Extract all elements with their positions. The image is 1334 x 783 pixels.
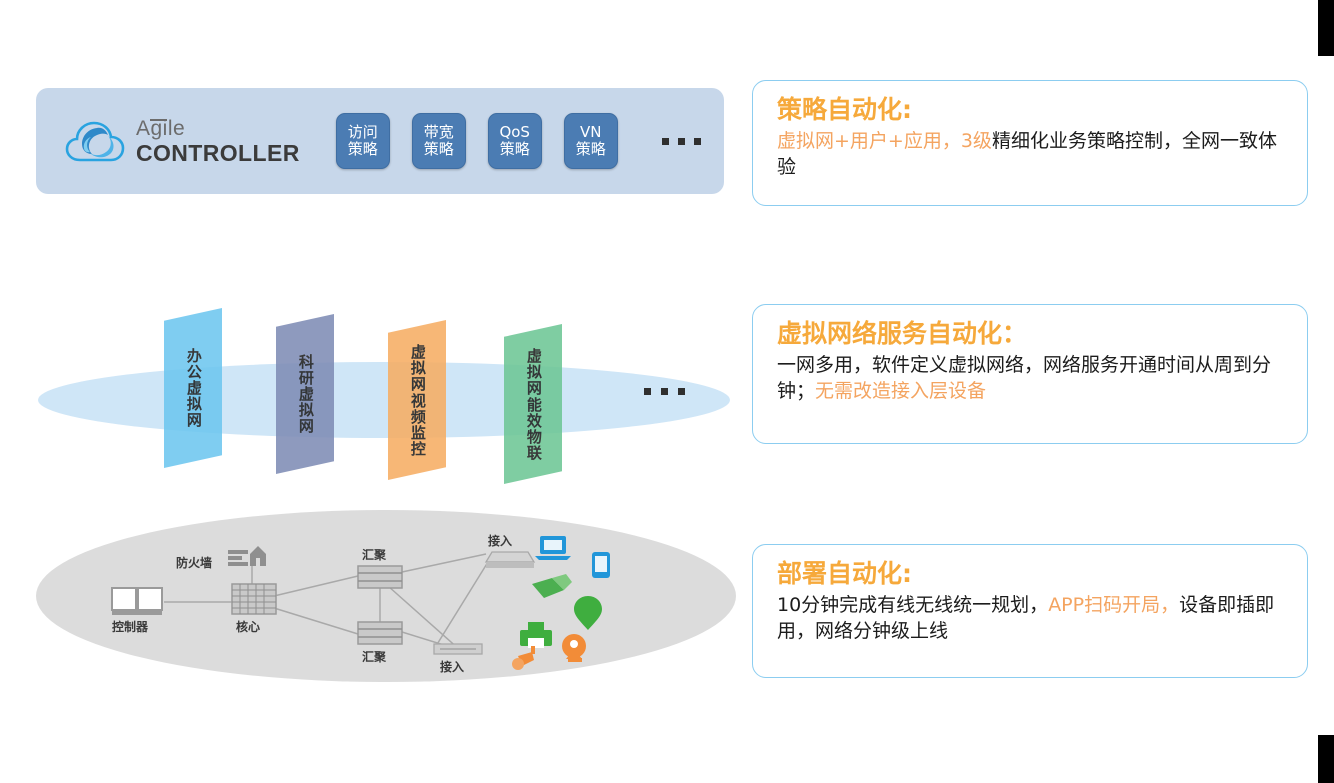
chip-line-1: 访问 — [348, 124, 378, 141]
slab-label: 办公虚拟网 — [164, 308, 222, 468]
printer-icon — [520, 622, 552, 648]
agile-controller-logo: Agile CONTROLLER — [64, 116, 300, 166]
core-switch-node-icon[interactable] — [232, 584, 276, 614]
ellipsis-dot — [678, 388, 685, 395]
access-switch-lower-icon[interactable] — [434, 644, 482, 654]
topology-label-controller: 控制器 — [112, 618, 148, 635]
slab-energy-iot-virtual-network[interactable]: 虚拟网能效物联 — [504, 324, 562, 484]
policy-chips-more-indicator — [662, 138, 701, 145]
access-switch-upper-icon[interactable] — [486, 552, 534, 568]
controller-node-icon[interactable] — [112, 588, 162, 615]
slab-research-virtual-network[interactable]: 科研虚拟网 — [276, 314, 334, 474]
tablet-icon — [592, 552, 610, 578]
topology-label-aggregation-upper: 汇聚 — [362, 546, 386, 563]
sensor-icon — [574, 596, 602, 630]
topology-label-access-lower: 接入 — [440, 658, 464, 675]
firewall-node-icon[interactable] — [228, 546, 266, 566]
chip-line-2: 策略 — [576, 141, 606, 158]
ellipsis-dot — [661, 388, 668, 395]
agile-controller-wordmark: Agile CONTROLLER — [136, 118, 300, 165]
chip-line-1: QoS — [499, 124, 530, 141]
edge-marker-bottom — [1318, 735, 1334, 783]
panel-title: 部署自动化: — [777, 559, 1287, 589]
callout-panel-deployment-automation: 部署自动化: 10分钟完成有线无线统一规划，APP扫码开局，设备即插即用，网络分… — [752, 544, 1308, 678]
network-backbone-ellipse — [38, 362, 730, 438]
topology-label-access-upper: 接入 — [488, 532, 512, 549]
panel-body-plain: 10分钟完成有线无线统一规划， — [777, 594, 1048, 616]
ellipsis-dot — [644, 388, 651, 395]
slab-office-virtual-network[interactable]: 办公虚拟网 — [164, 308, 222, 468]
panel-body: 虚拟网+用户+应用，3级精细化业务策略控制，全网一致体验 — [777, 129, 1287, 181]
policy-chip-vn-policy[interactable]: VN 策略 — [564, 113, 618, 169]
policy-chip-qos-policy[interactable]: QoS 策略 — [488, 113, 542, 169]
chip-line-1: 带宽 — [424, 124, 454, 141]
panel-title: 策略自动化: — [777, 95, 1287, 125]
laptop-icon — [535, 536, 571, 560]
webcam-icon — [562, 634, 586, 662]
callout-panel-policy-automation: 策略自动化: 虚拟网+用户+应用，3级精细化业务策略控制，全网一致体验 — [752, 80, 1308, 206]
panel-body-highlight: APP扫码开局， — [1048, 594, 1179, 616]
panel-body-highlight: 无需改造接入层设备 — [815, 380, 986, 402]
brand-agile: Agile — [136, 118, 185, 139]
slabs-more-indicator — [644, 388, 685, 395]
chip-line-2: 策略 — [500, 141, 530, 158]
callout-panel-virtual-network-service-automation: 虚拟网络服务自动化： 一网多用，软件定义虚拟网络，网络服务开通时间从周到分钟；无… — [752, 304, 1308, 444]
scanner-icon — [532, 574, 572, 598]
ellipsis-dot — [678, 138, 685, 145]
policy-chip-access-policy[interactable]: 访问 策略 — [336, 113, 390, 169]
cloud-swirl-icon — [64, 116, 126, 166]
ellipsis-dot — [662, 138, 669, 145]
policy-chip-list: 访问 策略 带宽 策略 QoS 策略 VN 策略 — [336, 113, 701, 169]
panel-body: 一网多用，软件定义虚拟网络，网络服务开通时间从周到分钟；无需改造接入层设备 — [777, 353, 1287, 405]
aggregation-switch-upper-icon[interactable] — [358, 566, 402, 588]
topology-label-core: 核心 — [236, 618, 260, 635]
slab-label: 虚拟网视频监控 — [388, 320, 446, 480]
panel-title: 虚拟网络服务自动化： — [777, 319, 1287, 349]
topology-label-aggregation-lower: 汇聚 — [362, 648, 386, 665]
slab-label: 虚拟网能效物联 — [504, 324, 562, 484]
aggregation-switch-lower-icon[interactable] — [358, 622, 402, 644]
slab-video-surveillance-virtual-network[interactable]: 虚拟网视频监控 — [388, 320, 446, 480]
virtual-network-slabs: 办公虚拟网 科研虚拟网 虚拟网视频监控 虚拟网能效物联 — [36, 300, 736, 500]
topology-links — [164, 554, 488, 650]
edge-marker-top — [1318, 0, 1334, 56]
chip-line-2: 策略 — [348, 141, 378, 158]
panel-body: 10分钟完成有线无线统一规划，APP扫码开局，设备即插即用，网络分钟级上线 — [777, 593, 1287, 645]
dome-camera-icon — [512, 646, 535, 670]
slab-label: 科研虚拟网 — [276, 314, 334, 474]
chip-line-1: VN — [580, 124, 601, 141]
network-topology-diagram: 控制器 防火墙 核心 汇聚 汇聚 接入 接入 — [36, 510, 736, 690]
slide-canvas: Agile CONTROLLER 访问 策略 带宽 策略 QoS 策略 VN 策… — [0, 0, 1334, 783]
policy-chip-bandwidth-policy[interactable]: 带宽 策略 — [412, 113, 466, 169]
topology-label-firewall: 防火墙 — [176, 554, 212, 571]
ellipsis-dot — [694, 138, 701, 145]
panel-body-highlight: 虚拟网+用户+应用，3级 — [777, 130, 992, 152]
chip-line-2: 策略 — [424, 141, 454, 158]
agile-controller-band: Agile CONTROLLER 访问 策略 带宽 策略 QoS 策略 VN 策… — [36, 88, 724, 194]
brand-controller: CONTROLLER — [136, 142, 300, 165]
